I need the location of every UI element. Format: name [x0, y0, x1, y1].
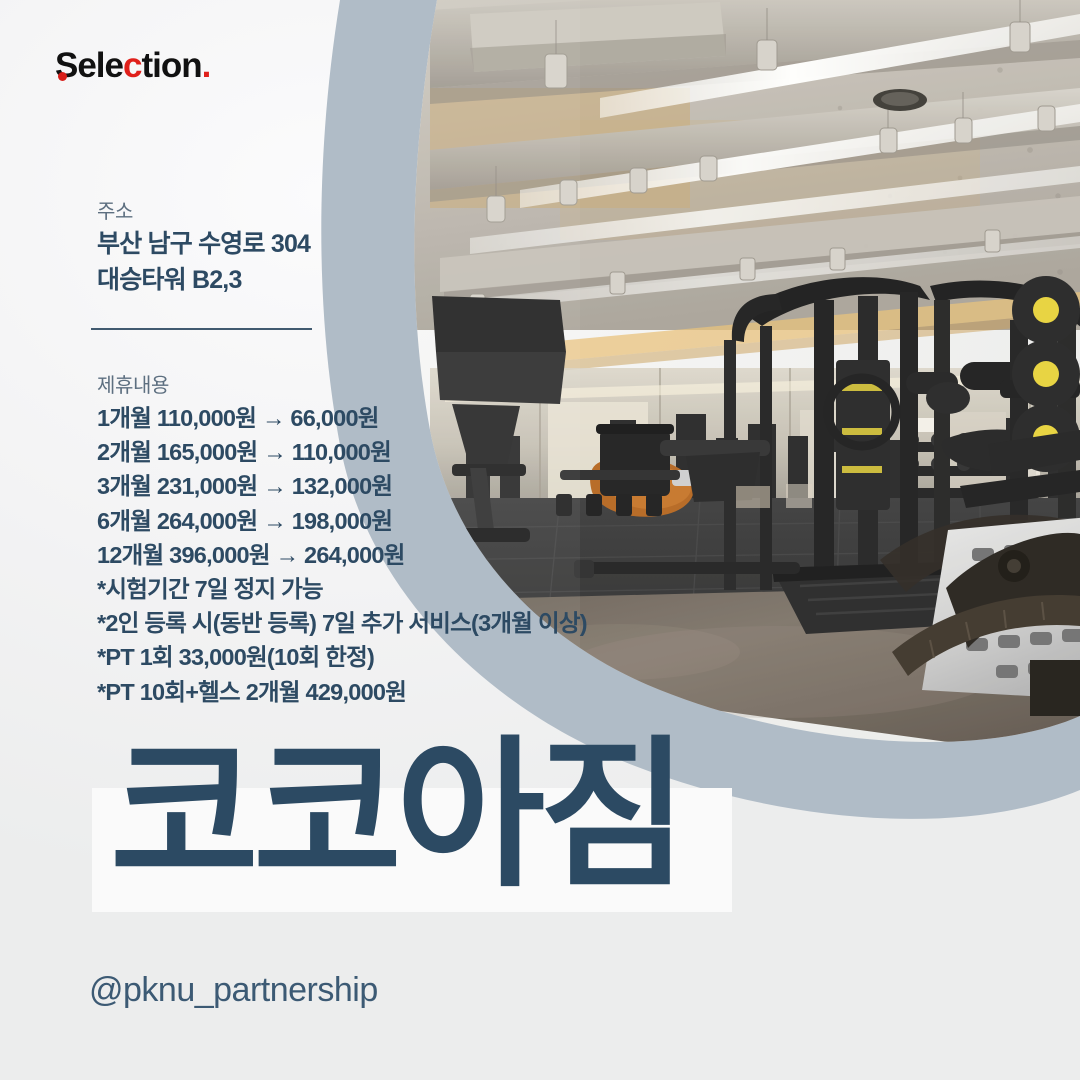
brand-logo: Selection. [55, 48, 210, 83]
partnership-note: *PT 1회 33,000원(10회 한정) [97, 640, 587, 674]
partnership-line: 3개월 231,000원 → 132,000원 [97, 469, 587, 503]
section-divider [91, 328, 312, 330]
partnership-line: 2개월 165,000원 → 110,000원 [97, 435, 587, 469]
partnership-label: 제휴내용 [97, 371, 587, 401]
address-block: 주소 부산 남구 수영로 304 대승타워 B2,3 [97, 197, 310, 298]
logo-period: . [202, 46, 211, 85]
partnership-line: 12개월 396,000원 → 264,000원 [97, 538, 587, 572]
logo-text-part2: tion [141, 46, 201, 85]
partnership-details-block: 제휴내용 1개월 110,000원 → 66,000원 2개월 165,000원… [97, 371, 587, 709]
logo-dot-icon [58, 72, 67, 81]
instagram-handle: @pknu_partnership [89, 971, 378, 1010]
address-label: 주소 [97, 197, 310, 227]
logo-text-accent: c [123, 46, 141, 85]
partnership-line: 1개월 110,000원 → 66,000원 [97, 401, 587, 435]
partnership-note: *2인 등록 시(동반 등록) 7일 추가 서비스(3개월 이상) [97, 606, 587, 640]
page-title: 코코아짐 [110, 735, 682, 897]
partnership-line: 6개월 264,000원 → 198,000원 [97, 504, 587, 538]
address-line-1: 부산 남구 수영로 304 [97, 227, 310, 263]
partnership-note: *PT 10회+헬스 2개월 429,000원 [97, 675, 587, 709]
address-line-2: 대승타워 B2,3 [97, 263, 310, 299]
partnership-note: *시험기간 7일 정지 가능 [97, 572, 587, 606]
partnership-card: Selection. 주소 부산 남구 수영로 304 대승타워 B2,3 제휴… [0, 0, 1080, 1080]
